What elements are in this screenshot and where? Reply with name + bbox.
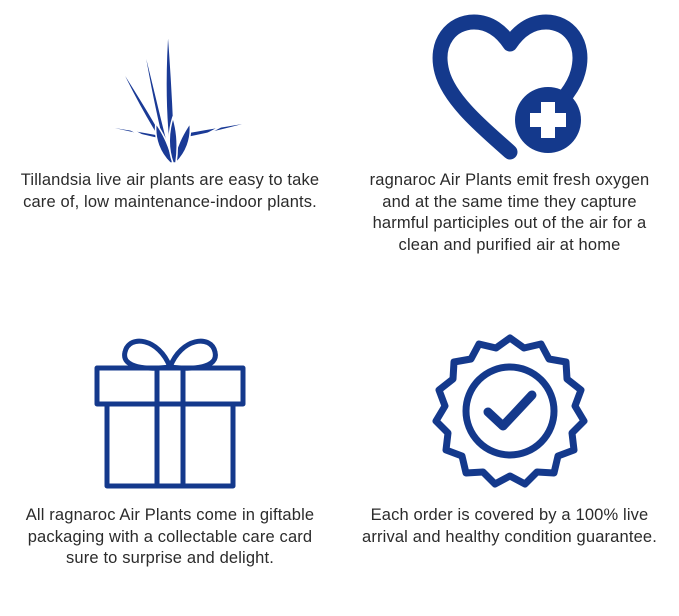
feature-cell-guarantee: Each order is covered by a 100% live arr… [340,308,679,616]
feature-grid: Tillandsia live air plants are easy to t… [0,0,679,616]
feature-caption-guarantee: Each order is covered by a 100% live arr… [348,505,672,548]
feature-cell-health: ragnaroc Air Plants emit fresh oxygen an… [340,0,679,308]
feature-caption-air-plant: Tillandsia live air plants are easy to t… [1,170,339,213]
feature-caption-health: ragnaroc Air Plants emit fresh oxygen an… [348,170,672,256]
gift-box-icon [0,308,340,503]
feature-cell-air-plant: Tillandsia live air plants are easy to t… [0,0,340,308]
feature-cell-gift: All ragnaroc Air Plants come in giftable… [0,308,340,616]
feature-caption-gift: All ragnaroc Air Plants come in giftable… [5,505,335,570]
air-plant-icon [0,0,340,170]
heart-plus-icon [340,0,679,170]
guarantee-seal-icon [340,308,679,503]
